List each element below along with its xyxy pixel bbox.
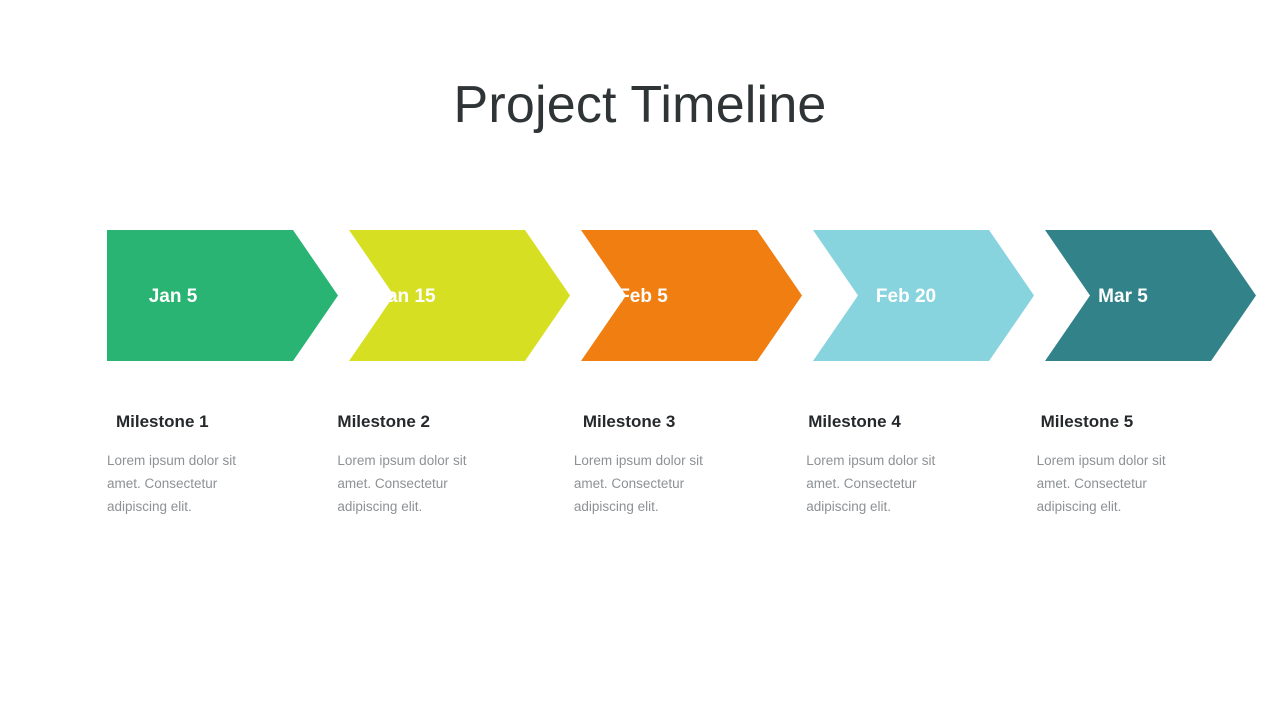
milestone-description: Lorem ipsum dolor sit amet. Consectetur … bbox=[337, 449, 487, 518]
milestone-description: Lorem ipsum dolor sit amet. Consectetur … bbox=[107, 449, 257, 518]
segment-date-label-4: Feb 20 bbox=[876, 286, 936, 307]
timeline-segment-4[interactable]: Feb 20 bbox=[813, 230, 1034, 361]
slide-canvas: Project Timeline Jan 5 Jan 15 Feb 5 Feb … bbox=[0, 0, 1280, 720]
timeline-segment-2[interactable]: Jan 15 bbox=[349, 230, 570, 361]
segment-date-label-1: Jan 5 bbox=[149, 286, 198, 307]
timeline-segment-3[interactable]: Feb 5 bbox=[581, 230, 802, 361]
segment-date-label-5: Mar 5 bbox=[1098, 286, 1148, 307]
timeline-segment-5[interactable]: Mar 5 bbox=[1045, 230, 1256, 361]
milestone-description: Lorem ipsum dolor sit amet. Consectetur … bbox=[806, 449, 956, 518]
milestone-title: Milestone 4 bbox=[808, 410, 1014, 434]
chevron-shape-3[interactable] bbox=[581, 230, 802, 361]
segment-date-label-3: Feb 5 bbox=[618, 286, 668, 307]
milestone-item: Milestone 1 Lorem ipsum dolor sit amet. … bbox=[107, 410, 337, 540]
milestone-item: Milestone 5 Lorem ipsum dolor sit amet. … bbox=[1037, 410, 1267, 540]
timeline-chevron-band: Jan 5 Jan 15 Feb 5 Feb 20 Mar 5 bbox=[107, 230, 1256, 361]
segment-date-label-2: Jan 15 bbox=[376, 286, 436, 307]
milestone-item: Milestone 2 Lorem ipsum dolor sit amet. … bbox=[337, 410, 567, 540]
milestone-list: Milestone 1 Lorem ipsum dolor sit amet. … bbox=[107, 410, 1267, 540]
milestone-title: Milestone 5 bbox=[1041, 410, 1245, 434]
milestone-item: Milestone 3 Lorem ipsum dolor sit amet. … bbox=[574, 410, 804, 540]
milestone-item: Milestone 4 Lorem ipsum dolor sit amet. … bbox=[806, 410, 1036, 540]
milestone-description: Lorem ipsum dolor sit amet. Consectetur … bbox=[574, 449, 724, 518]
milestone-description: Lorem ipsum dolor sit amet. Consectetur … bbox=[1037, 449, 1187, 518]
milestone-title: Milestone 1 bbox=[116, 410, 315, 434]
chevron-shape-1[interactable] bbox=[107, 230, 338, 361]
chevron-shape-5[interactable] bbox=[1045, 230, 1256, 361]
milestone-title: Milestone 2 bbox=[337, 410, 545, 434]
timeline-segment-1[interactable]: Jan 5 bbox=[107, 230, 338, 361]
milestone-title: Milestone 3 bbox=[583, 410, 782, 434]
page-title: Project Timeline bbox=[0, 74, 1280, 136]
